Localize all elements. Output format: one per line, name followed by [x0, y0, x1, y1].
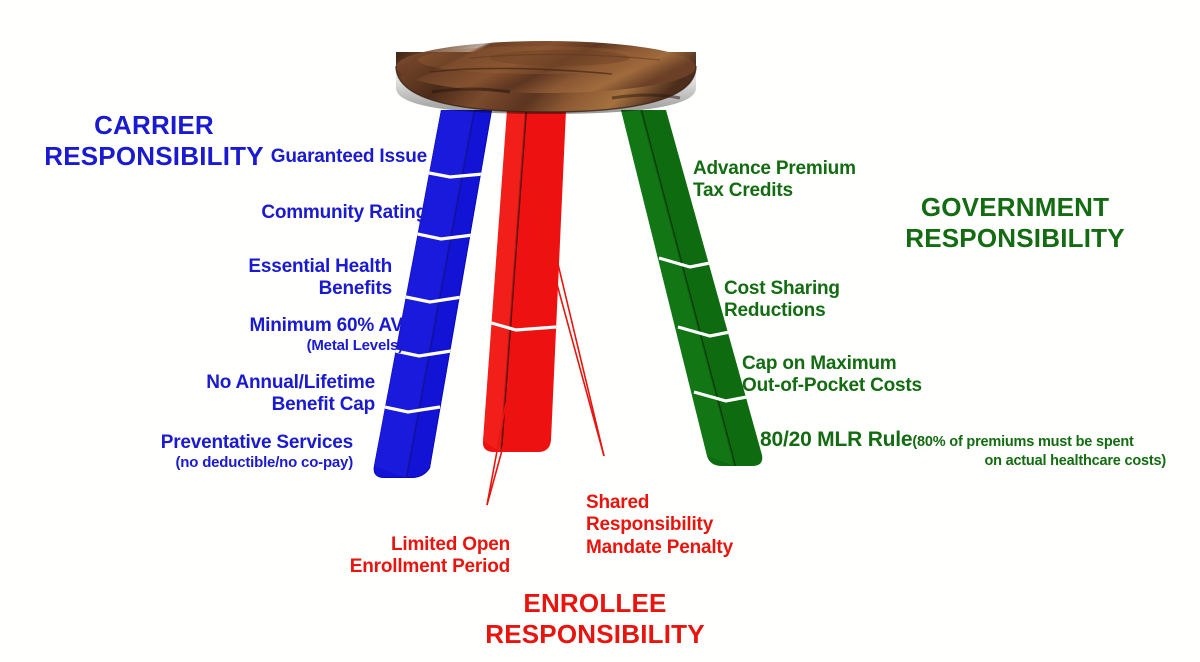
- enrollee-item-limited-open-enrollment-period: Limited Open Enrollment Period: [300, 512, 510, 579]
- enrollee-item-label: Limited Open Enrollment Period: [350, 534, 510, 577]
- government-item-label: Advance Premium Tax Credits: [693, 158, 856, 201]
- government-item-cap-on-maximum-out-of-pocket-costs: Cap on Maximum Out-of-Pocket Costs: [742, 331, 992, 398]
- enrollee-item-shared-responsibility-mandate-penalty: Shared Responsibility Mandate Penalty: [586, 470, 836, 559]
- carrier-item-sublabel: (no deductible/no co-pay): [105, 454, 353, 472]
- enrollee-item-label: Shared Responsibility Mandate Penalty: [586, 492, 733, 557]
- government-item-label: Cap on Maximum Out-of-Pocket Costs: [742, 353, 922, 396]
- carrier-item-label: Minimum 60% AV: [250, 315, 403, 336]
- carrier-item-guaranteed-issue: Guaranteed Issue: [175, 124, 427, 168]
- government-item-label: 80/20 MLR Rule: [760, 428, 912, 451]
- government-item-sublabel: (80% of premiums must be spent: [912, 434, 1133, 450]
- government-item-sublabel-line2: on actual healthcare costs): [760, 453, 1180, 470]
- infographic-canvas: CARRIER RESPONSIBILITY GOVERNMENT RESPON…: [0, 0, 1200, 662]
- enrollee-responsibility-heading: ENROLLEE RESPONSIBILITY: [430, 588, 760, 650]
- carrier-item-community-rating: Community Rating: [165, 180, 427, 224]
- government-item-cost-sharing-reductions: Cost Sharing Reductions: [724, 256, 954, 323]
- carrier-item-label: No Annual/Lifetime Benefit Cap: [206, 372, 375, 415]
- government-item-advance-premium-tax-credits: Advance Premium Tax Credits: [693, 136, 943, 203]
- government-item-label: Cost Sharing Reductions: [724, 278, 840, 321]
- carrier-item-label: Community Rating: [261, 202, 427, 223]
- enrollee-leg: [483, 110, 566, 452]
- carrier-item-label: Guaranteed Issue: [271, 146, 427, 167]
- carrier-item-essential-health-benefits: Essential Health Benefits: [165, 234, 392, 301]
- carrier-item-no-annual-lifetime-benefit-cap: No Annual/Lifetime Benefit Cap: [140, 350, 375, 417]
- carrier-item-label: Preventative Services: [161, 432, 353, 453]
- carrier-item-preventative-services: Preventative Services (no deductible/no …: [105, 410, 353, 495]
- stool-seat: [396, 41, 696, 114]
